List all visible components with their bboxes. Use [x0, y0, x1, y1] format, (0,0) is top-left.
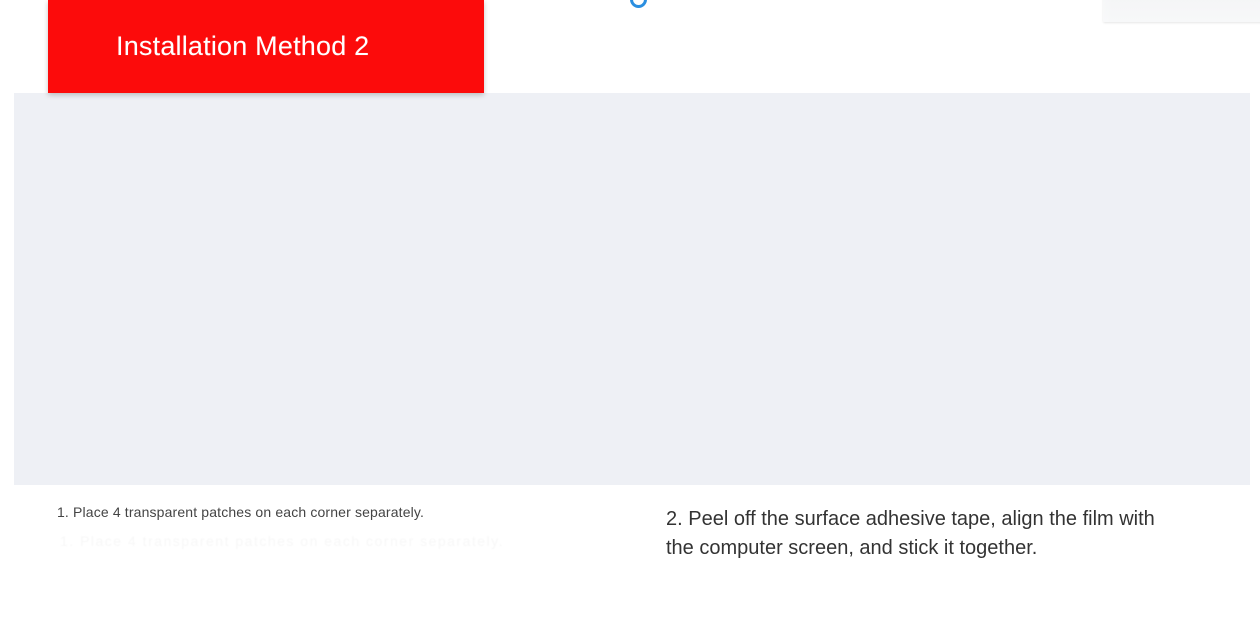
photo-panel: [14, 93, 1250, 485]
top-right-floating-panel: [1103, 0, 1260, 22]
loading-spinner-icon: [630, 0, 647, 8]
installation-method-banner: Installation Method 2: [48, 0, 484, 93]
banner-title: Installation Method 2: [116, 33, 369, 60]
step-1-caption: 1. Place 4 transparent patches on each c…: [57, 504, 424, 520]
step-1-caption-ghost: 1. Place 4 transparent patches on each c…: [60, 533, 500, 549]
step-2-caption: 2. Peel off the surface adhesive tape, a…: [666, 505, 1176, 563]
page-canvas: Installation Method 2 1. Place 4 transpa…: [0, 0, 1260, 641]
